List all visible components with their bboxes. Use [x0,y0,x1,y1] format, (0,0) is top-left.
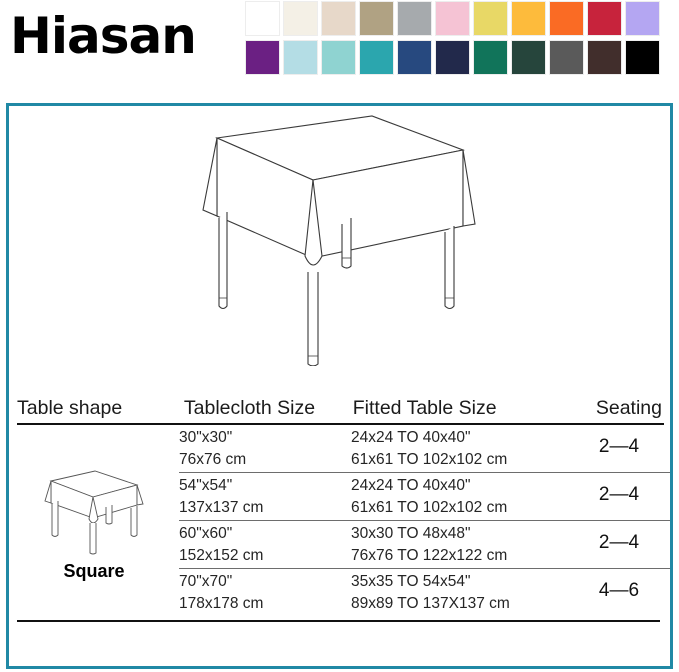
spec-rows-container: 30"x30"76x76 cm24x24 TO 40x40"61x61 TO 1… [179,425,670,616]
hero-illustration [9,106,670,384]
cloth-size-cm: 76x76 cm [179,451,351,469]
color-swatch-row-1 [246,2,676,35]
table-row: 30"x30"76x76 cm24x24 TO 40x40"61x61 TO 1… [179,425,670,472]
spec-table: Table shape Tablecloth Size Fitted Table… [9,380,670,622]
fitted-size-cm: 89x89 TO 137X137 cm [351,595,596,613]
table-row: 54"x54"137x137 cm24x24 TO 40x40"61x61 TO… [179,473,670,520]
color-swatch-dark-navy[interactable] [436,41,469,74]
seating-capacity: 2—4 [582,532,656,554]
spec-table-header-row: Table shape Tablecloth Size Fitted Table… [9,380,670,420]
seating-capacity: 2—4 [582,436,656,458]
column-header-table-shape: Table shape [17,397,184,420]
color-swatch-lavender[interactable] [626,2,659,35]
color-swatch-taupe[interactable] [360,2,393,35]
page-header: Hiasan [0,0,679,92]
color-swatch-gold[interactable] [512,2,545,35]
color-swatch-aqua[interactable] [322,41,355,74]
color-swatch-emerald[interactable] [474,41,507,74]
color-swatch-dark-brown[interactable] [588,41,621,74]
color-swatch-charcoal[interactable] [550,41,583,74]
fitted-size-inches: 30x30 TO 48x48" [351,525,596,543]
seating-capacity: 2—4 [582,484,656,506]
spec-table-body: Square 30"x30"76x76 cm24x24 TO 40x40"61x… [9,425,670,616]
color-swatch-pink[interactable] [436,2,469,35]
column-header-fitted-table-size: Fitted Table Size [353,397,594,420]
fitted-size-inches: 24x24 TO 40x40" [351,477,596,495]
seating-capacity: 4—6 [582,580,656,602]
color-swatch-beige[interactable] [322,2,355,35]
color-swatch-dark-green[interactable] [512,41,545,74]
color-swatch-grey[interactable] [398,2,431,35]
brand-logo: Hiasan [10,8,196,64]
cloth-size-inches: 54"x54" [179,477,351,495]
square-table-thumbnail-icon [33,463,155,555]
color-swatch-light-blue[interactable] [284,41,317,74]
table-shape-label: Square [63,561,124,582]
cloth-size-inches: 60"x60" [179,525,351,543]
cloth-size-cm: 137x137 cm [179,499,351,517]
cloth-size-inches: 70"x70" [179,573,351,591]
color-swatch-panel [246,2,676,80]
column-header-seating: Seating [593,397,666,420]
fitted-size-cm: 61x61 TO 102x102 cm [351,499,596,517]
color-swatch-orange[interactable] [550,2,583,35]
color-swatch-ivory[interactable] [284,2,317,35]
color-swatch-row-2 [246,41,676,74]
color-swatch-light-yellow[interactable] [474,2,507,35]
color-swatch-navy-blue[interactable] [398,41,431,74]
cloth-size-cm: 178x178 cm [179,595,351,613]
color-swatch-purple[interactable] [246,41,279,74]
fitted-size-cm: 76x76 TO 122x122 cm [351,547,596,565]
fitted-size-cm: 61x61 TO 102x102 cm [351,451,596,469]
table-row: 60"x60"152x152 cm30x30 TO 48x48"76x76 TO… [179,521,670,568]
product-info-card: Table shape Tablecloth Size Fitted Table… [6,103,673,669]
table-shape-cell: Square [9,425,179,616]
table-row: 70"x70"178x178 cm35x35 TO 54x54"89x89 TO… [179,569,670,616]
color-swatch-black[interactable] [626,41,659,74]
fitted-size-inches: 35x35 TO 54x54" [351,573,596,591]
color-swatch-teal[interactable] [360,41,393,74]
color-swatch-white[interactable] [246,2,279,35]
cloth-size-cm: 152x152 cm [179,547,351,565]
column-header-tablecloth-size: Tablecloth Size [184,397,353,420]
fitted-size-inches: 24x24 TO 40x40" [351,429,596,447]
table-bottom-divider [17,620,660,622]
color-swatch-red[interactable] [588,2,621,35]
cloth-size-inches: 30"x30" [179,429,351,447]
